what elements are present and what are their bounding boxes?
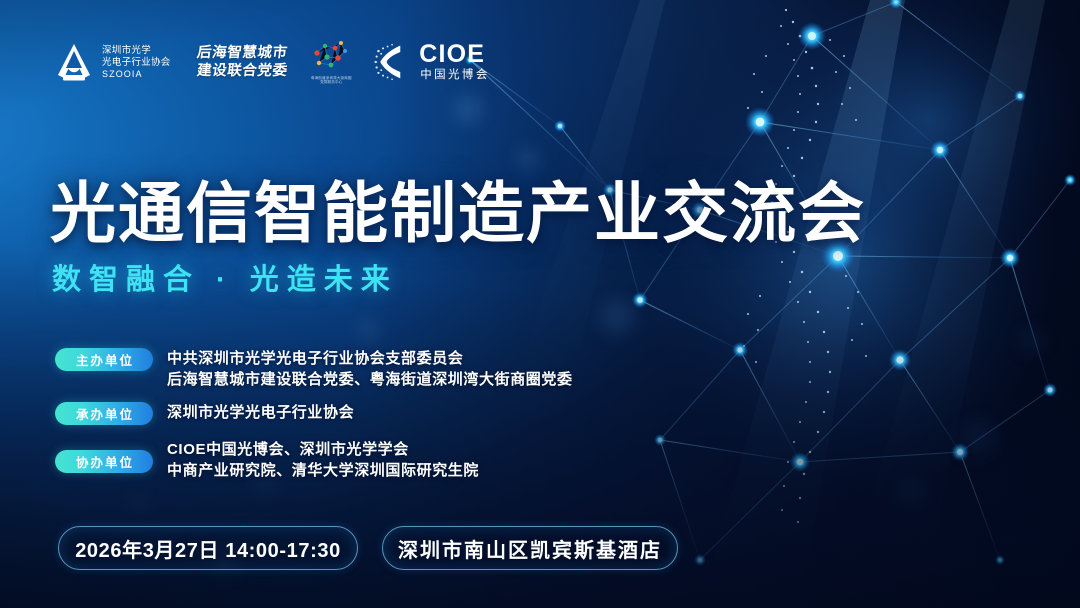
event-venue-pill: 深圳市南山区凯宾斯基酒店 [382,526,678,570]
organizer-row: 主办单位 中共深圳市光学光电子行业协会支部委员会 后海智慧城市建设联合党委、粤海… [55,348,675,390]
organizer-line: 后海智慧城市建设联合党委、粤海街道深圳湾大街商圈党委 [167,369,573,390]
organizer-line: 中商产业研究院、清华大学深圳国际研究生院 [167,460,479,481]
organizer-names: 中共深圳市光学光电子行业协会支部委员会 后海智慧城市建设联合党委、粤海街道深圳湾… [167,348,573,390]
organizer-line: CIOE中国光博会、深圳市光学学会 [167,439,479,460]
organizer-names: 深圳市光学光电子行业协会 [167,402,354,423]
organizer-line: 中共深圳市光学光电子行业协会支部委员会 [167,348,573,369]
organizer-badge: 协办单位 [55,450,153,473]
organizer-badge: 承办单位 [55,402,153,425]
szooia-wordmark: 深圳市光学 光电子行业协会 SZOOIA [102,45,171,80]
organizer-badge: 主办单位 [55,348,153,371]
poster-canvas: 深圳市光学 光电子行业协会 SZOOIA 后海智慧城市 建设联合党委 [0,0,1080,608]
organizer-row: 协办单位 CIOE中国光博会、深圳市光学学会 中商产业研究院、清华大学深圳国际研… [55,439,675,481]
organizer-row: 承办单位 深圳市光学光电子行业协会 [55,402,675,425]
background-vignette [0,0,1080,608]
molecule-icon [305,37,357,75]
cioe-cn: 中国光博会 [420,70,490,82]
szooia-mark-icon [55,42,93,82]
organizer-names: CIOE中国光博会、深圳市光学学会 中商产业研究院、清华大学深圳国际研究生院 [167,439,479,481]
molecule-caption: 粤海街道深圳湾大街商圈党群服务中心 [311,76,352,85]
page-subtitle: 数智融合 · 光造未来 [52,266,398,295]
event-datetime-pill: 2026年3月27日 14:00-17:30 [58,526,358,570]
houhai-line2: 建设联合党委 [196,63,289,79]
logo-molecule: 粤海街道深圳湾大街商圈党群服务中心 [305,37,357,87]
logo-cioe: CIOE 中国光博会 [373,42,490,82]
logo-houhai: 后海智慧城市 建设联合党委 [197,45,288,79]
cioe-mark-icon [373,42,413,82]
organizer-line: 深圳市光学光电子行业协会 [167,402,354,423]
logo-bar: 深圳市光学 光电子行业协会 SZOOIA 后海智慧城市 建设联合党委 [55,33,490,91]
organizer-list: 主办单位 中共深圳市光学光电子行业协会支部委员会 后海智慧城市建设联合党委、粤海… [55,348,675,493]
footer-pills: 2026年3月27日 14:00-17:30 深圳市南山区凯宾斯基酒店 [58,526,678,570]
szooia-line1: 深圳市光学 [102,45,171,56]
szooia-line3: SZOOIA [102,69,171,80]
logo-szooia: 深圳市光学 光电子行业协会 SZOOIA [55,42,171,82]
houhai-line1: 后海智慧城市 [196,45,289,61]
page-title: 光通信智能制造产业交流会 [50,180,866,246]
cioe-en: CIOE [419,42,490,67]
szooia-line2: 光电子行业协会 [102,57,171,68]
cioe-wordmark: CIOE 中国光博会 [419,42,490,82]
